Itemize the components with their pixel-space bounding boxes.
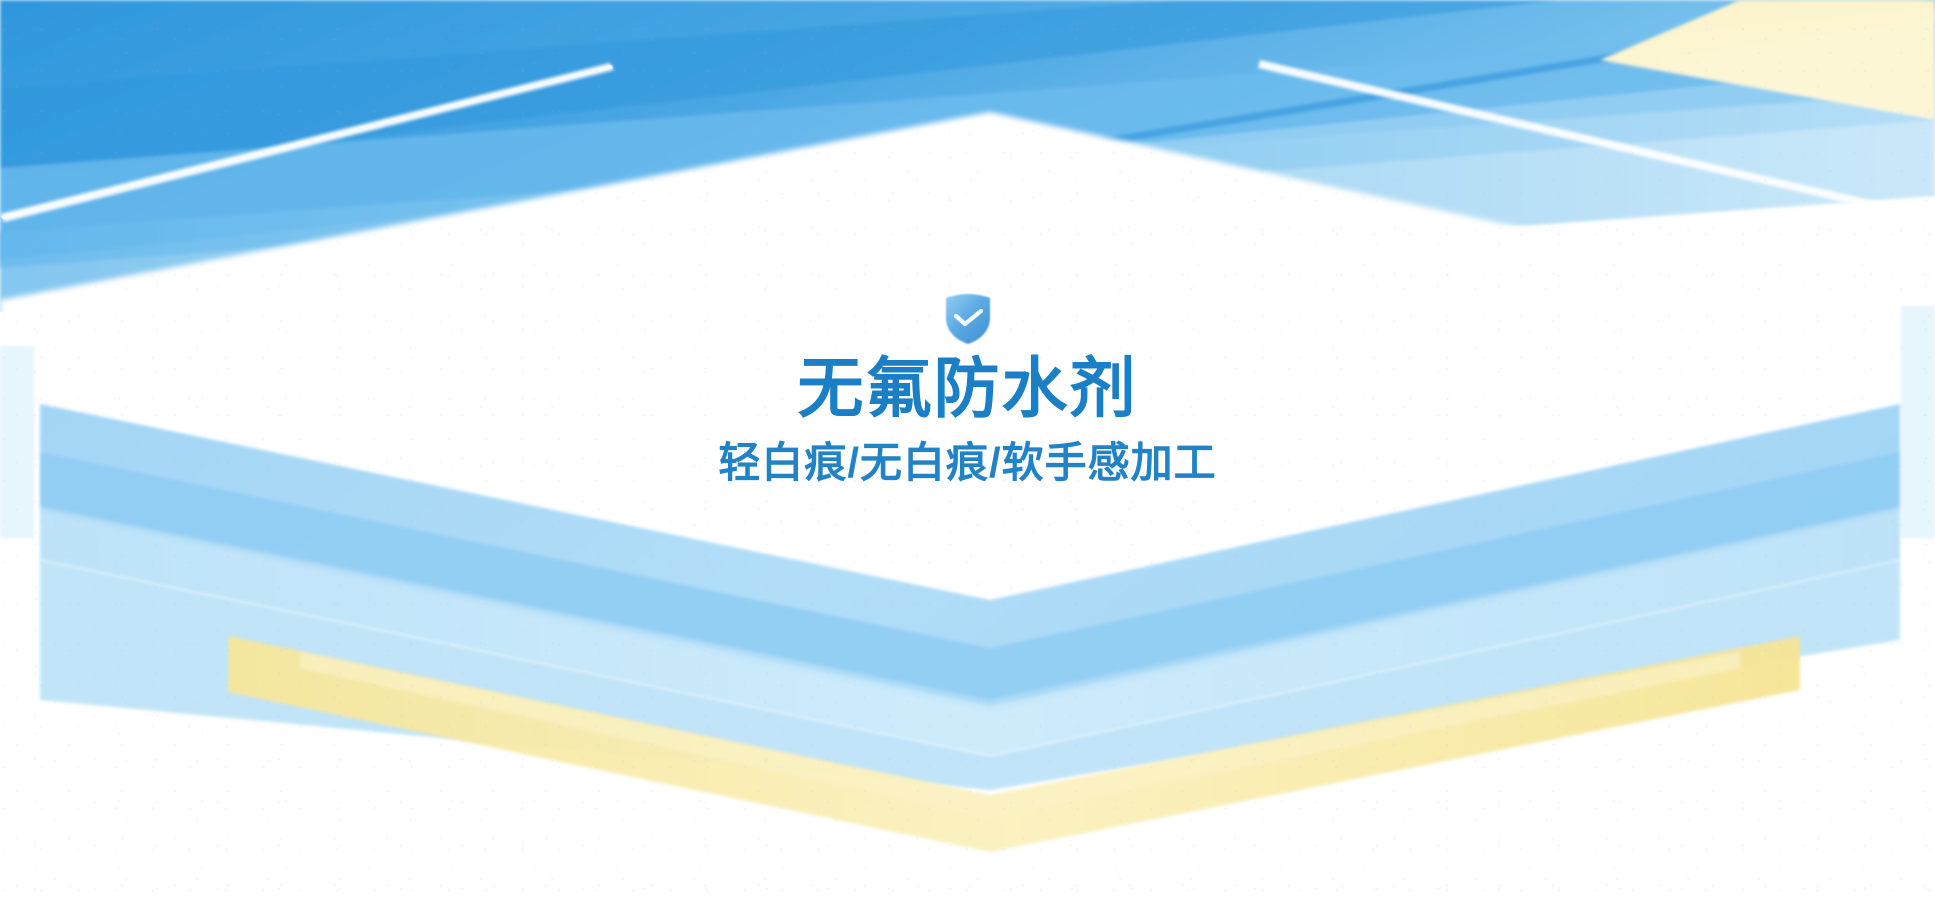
product-hero-banner: 无氟防水剂 轻白痕/无白痕/软手感加工 xyxy=(0,0,1935,920)
shield-check-icon xyxy=(942,292,994,346)
page-title: 无氟防水剂 xyxy=(798,352,1138,426)
banner-content: 无氟防水剂 轻白痕/无白痕/软手感加工 xyxy=(0,0,1935,920)
page-subtitle: 轻白痕/无白痕/软手感加工 xyxy=(718,438,1216,488)
